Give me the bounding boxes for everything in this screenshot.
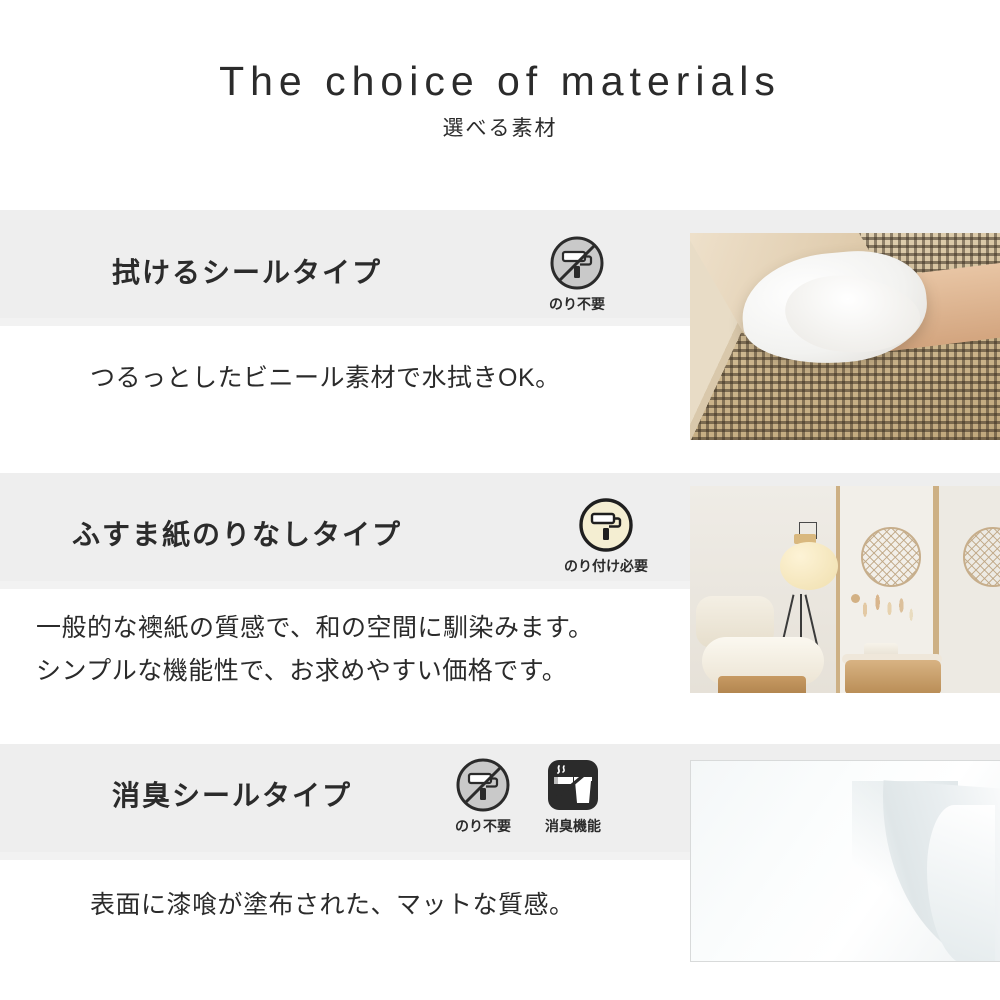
section-2-badges: のり付け必要 (552, 497, 660, 576)
section-1-description-line-1: つるっとしたビニール素材で水拭きOK。 (90, 357, 561, 399)
badge-glue-required-label: のり付け必要 (552, 556, 660, 576)
wiping-rattan-surface-photo (690, 233, 1000, 440)
section-3-badges: のり不要 消臭機能 (448, 757, 608, 836)
badge-deodorizing: 消臭機能 (538, 757, 608, 836)
page-header: The choice of materials 選べる素材 (0, 0, 1000, 195)
section-1-title: 拭けるシールタイプ (112, 251, 382, 291)
deodorizing-function-icon (545, 757, 601, 813)
no-glue-roller-icon (549, 235, 605, 291)
section-1-badges: のり不要 (542, 235, 612, 314)
materials-choice-page: The choice of materials 選べる素材 拭けるシールタイプ … (0, 0, 1000, 1000)
section-2-description-line-2: シンプルな機能性で、お求めやすい価格です。 (36, 650, 567, 692)
white-curling-sheet-photo (690, 760, 1000, 962)
no-glue-roller-icon (455, 757, 511, 813)
section-3-title: 消臭シールタイプ (112, 774, 352, 814)
badge-glue-required: のり付け必要 (552, 497, 660, 576)
section-2-description-line-1: 一般的な襖紙の質感で、和の空間に馴染みます。 (36, 607, 594, 649)
badge-no-glue-label: のり不要 (448, 816, 518, 836)
section-3-description-line-1: 表面に漆喰が塗布された、マットな質感。 (90, 884, 575, 926)
japanese-interior-fusuma-photo (690, 486, 1000, 693)
section-2-title: ふすま紙のりなしタイプ (72, 513, 402, 553)
glue-required-roller-icon (578, 497, 634, 553)
page-title: The choice of materials (0, 58, 1000, 105)
badge-deodorizing-label: 消臭機能 (538, 816, 608, 836)
badge-no-glue: のり不要 (448, 757, 518, 836)
badge-no-glue-label: のり不要 (542, 294, 612, 314)
page-subtitle: 選べる素材 (0, 112, 1000, 142)
badge-no-glue: のり不要 (542, 235, 612, 314)
